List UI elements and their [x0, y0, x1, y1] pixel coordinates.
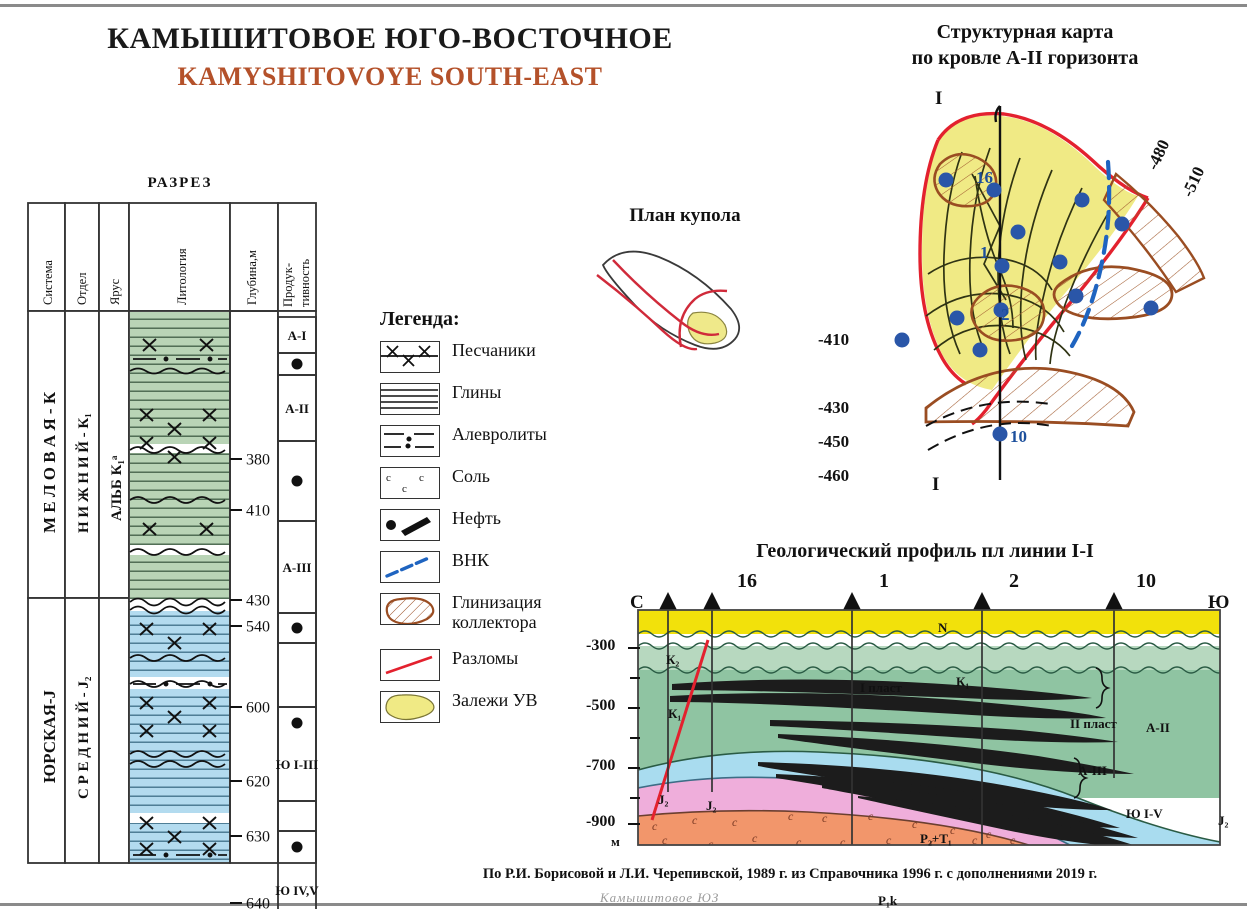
- depth-label: 600: [246, 700, 270, 717]
- depth-label: 410: [246, 503, 270, 520]
- salt-glyph: с: [912, 817, 918, 831]
- profile-layer-label: К₁: [956, 674, 969, 689]
- oil-show-dot: [292, 623, 303, 634]
- strat-yarus-alb: АЛЬБ К₁ᵃ: [109, 455, 125, 521]
- fault-icon: [380, 649, 440, 681]
- depth-scale: 380410430540600620630640650: [230, 452, 270, 909]
- legend-item-clay[interactable]: Глины: [380, 380, 610, 422]
- profile-well-label-1: 1: [879, 570, 889, 593]
- depth-label: 620: [246, 774, 270, 791]
- map-contour-label-450: -450: [818, 432, 849, 452]
- section-title-razrez: РАЗРЕЗ: [30, 175, 330, 192]
- map-well[interactable]: [1075, 193, 1090, 208]
- profile-well-label-16: 16: [737, 570, 757, 593]
- profile-layer-label: P₂+T₁: [920, 831, 952, 846]
- profile-depth-label-900: -900: [586, 813, 615, 831]
- profile-layer-label: P₁k: [878, 893, 898, 908]
- legend-label-salt: Соль: [452, 466, 490, 486]
- profile-well-derricks: [659, 592, 1123, 610]
- geological-profile: сссссссссссссссссс NК₂К₁К₁I: [600, 562, 1240, 854]
- legend-item-hc-pool[interactable]: Залежи УВ: [380, 688, 610, 730]
- oil-show-dot: [292, 359, 303, 370]
- clayed-line2: коллектора: [452, 612, 537, 632]
- salt-glyph: с: [868, 809, 874, 823]
- map-well[interactable]: [939, 173, 954, 188]
- poster-root: КАМЫШИТОВОЕ ЮГО-ВОСТОЧНОЕ KAMYSHITOVOYE …: [0, 0, 1247, 909]
- salt-glyph: с: [788, 809, 794, 823]
- handwritten-note: Камышитовое ЮЗ: [600, 890, 719, 906]
- legend-label-siltstone: Алевролиты: [452, 424, 547, 444]
- profile-layer-label: К₂: [666, 652, 679, 667]
- profile-layer-label: J₂: [706, 798, 717, 813]
- strat-header-prod2: тивность: [298, 259, 312, 307]
- source-caption: По Р.И. Борисовой и Л.И. Черепивской, 19…: [340, 866, 1240, 883]
- stratigraphic-column: Система Отдел Ярус Литология Глубина,м П…: [28, 203, 316, 863]
- profile-body: сссссссссссссссссс: [638, 610, 1226, 898]
- salt-glyph: с: [840, 835, 846, 849]
- salt-glyph: с: [822, 811, 828, 825]
- profile-layer-label: J₂: [658, 792, 669, 807]
- profile-well-label-10: 10: [1136, 570, 1156, 593]
- profile-axis-unit: м: [611, 834, 620, 850]
- map-well[interactable]: [1069, 289, 1084, 304]
- profile-depth-label-300: -300: [586, 637, 615, 655]
- profile-layer-label: N: [938, 620, 948, 635]
- profile-derrick[interactable]: [659, 592, 677, 610]
- profile-layer-label: I пласт: [860, 680, 902, 695]
- profile-derrick[interactable]: [973, 592, 991, 610]
- salt-glyph: с: [732, 815, 738, 829]
- depth-label: 540: [246, 619, 270, 636]
- profile-layer-label: J₂: [1218, 813, 1229, 828]
- map-contour-label-410: -410: [818, 330, 849, 350]
- page-title: КАМЫШИТОВОЕ ЮГО-ВОСТОЧНОЕ: [60, 22, 720, 56]
- strat-header-prod1: Продук-: [281, 263, 295, 307]
- legend-item-salt[interactable]: с с с Соль: [380, 464, 610, 506]
- map-well[interactable]: [1011, 225, 1026, 240]
- salt-glyph: с: [402, 483, 407, 495]
- strat-header-lithology: Литология: [175, 248, 189, 305]
- map-well[interactable]: [1053, 255, 1068, 270]
- productivity-label: А-I: [288, 328, 307, 343]
- profile-layer-label: Ю I-V: [1126, 806, 1163, 821]
- oil-show-dot: [292, 842, 303, 853]
- map-title-line2: по кровле А-II горизонта: [912, 47, 1139, 69]
- depth-label: 640: [246, 896, 270, 909]
- profile-layer-label: II пласт: [1070, 716, 1117, 731]
- strat-header-depth: Глубина,м: [245, 250, 259, 305]
- profile-derrick[interactable]: [843, 592, 861, 610]
- map-well-label-2: 2: [1001, 305, 1010, 325]
- legend: Песчаники Глины: [380, 338, 610, 730]
- legend-item-fault[interactable]: Разломы: [380, 646, 610, 688]
- layer-k2: [638, 646, 1220, 670]
- legend-label-clayed-reservoir: Глинизация коллектора: [452, 592, 542, 632]
- strat-header-otdel: Отдел: [75, 273, 89, 305]
- salt-glyph: с: [692, 813, 698, 827]
- map-well[interactable]: [993, 427, 1008, 442]
- legend-item-siltstone[interactable]: Алевролиты: [380, 422, 610, 464]
- section-title-structural-map: Структурная карта по кровле А-II горизон…: [820, 20, 1230, 71]
- map-well[interactable]: [895, 333, 910, 348]
- strat-system-cretaceous: М Е Л О В А Я - К: [40, 391, 59, 533]
- salt-glyph: с: [419, 472, 424, 484]
- legend-item-clayed-reservoir[interactable]: Глинизация коллектора: [380, 590, 610, 646]
- clay-icon: [380, 383, 440, 415]
- profile-depth-label-500: -500: [586, 697, 615, 715]
- legend-title: Легенда:: [380, 308, 460, 331]
- hc-pool-icon: [380, 691, 440, 723]
- profile-well-label-2: 2: [1009, 570, 1019, 593]
- clayed-reservoir-icon: [380, 593, 440, 625]
- salt-glyph: с: [796, 835, 802, 849]
- profile-derrick[interactable]: [1105, 592, 1123, 610]
- productivity-label: Ю IV,V: [275, 883, 319, 898]
- profile-layer-label: А-II: [1146, 720, 1170, 735]
- productivity-label: Ю I-III: [276, 757, 318, 772]
- oil-show-dot: [292, 476, 303, 487]
- lithology-body: [130, 312, 229, 862]
- legend-label-hc-pool: Залежи УВ: [452, 690, 537, 710]
- map-well[interactable]: [995, 259, 1010, 274]
- strat-header-system: Система: [41, 260, 55, 305]
- map-title-line1: Структурная карта: [937, 21, 1114, 43]
- legend-label-sandstone: Песчаники: [452, 340, 536, 360]
- salt-glyph: с: [386, 472, 391, 484]
- structural-map: [820, 78, 1240, 508]
- map-section-label-top: I: [935, 88, 942, 110]
- top-rule: [0, 4, 1247, 7]
- strat-system-jurassic: ЮРСКАЯ-J: [40, 689, 59, 783]
- legend-label-fault: Разломы: [452, 648, 518, 668]
- legend-label-owc: ВНК: [452, 550, 489, 570]
- salt-glyph: с: [708, 837, 714, 851]
- owc-icon: [380, 551, 440, 583]
- profile-direction-south: Ю: [1208, 592, 1229, 614]
- map-well-label-1: 1: [980, 243, 989, 263]
- map-well-label-16: 16: [976, 168, 993, 188]
- profile-derrick[interactable]: [703, 592, 721, 610]
- salt-glyph: с: [986, 827, 992, 841]
- map-contour-label-460: -460: [818, 466, 849, 486]
- profile-depth-label-700: -700: [586, 757, 615, 775]
- section-title-geological-profile: Геологический профиль пл линии I-I: [610, 540, 1240, 563]
- oil-show-dot: [292, 718, 303, 729]
- salt-icon: с с с: [380, 467, 440, 499]
- section-title-dome-plan: План купола: [560, 205, 810, 227]
- strat-svg: Система Отдел Ярус Литология Глубина,м П…: [28, 203, 316, 863]
- profile-layer-label: К₁: [668, 706, 681, 721]
- siltstone-icon: [380, 425, 440, 457]
- legend-item-owc[interactable]: ВНК: [380, 548, 610, 590]
- productivity-label: А-III: [283, 560, 312, 575]
- page-subtitle: KAMYSHITOVOYE SOUTH-EAST: [60, 62, 720, 92]
- oil-icon: [380, 509, 440, 541]
- map-well[interactable]: [1115, 217, 1130, 232]
- map-well[interactable]: [973, 343, 988, 358]
- clayed-line1: Глинизация: [452, 592, 542, 612]
- map-contour-label-430: -430: [818, 398, 849, 418]
- profile-direction-north: С: [630, 592, 644, 614]
- productivity-label: А-II: [285, 401, 309, 416]
- map-well[interactable]: [1144, 301, 1159, 316]
- salt-glyph: с: [752, 831, 758, 845]
- map-well[interactable]: [950, 311, 965, 326]
- depth-label: 430: [246, 593, 270, 610]
- legend-label-clay: Глины: [452, 382, 501, 402]
- depth-label: 630: [246, 829, 270, 846]
- map-section-label-bottom: I: [932, 474, 939, 496]
- map-well-label-10: 10: [1010, 427, 1027, 447]
- dome-plan-sketch: [575, 235, 775, 350]
- depth-label: 380: [246, 452, 270, 469]
- salt-glyph: с: [652, 819, 658, 833]
- sandstone-icon: [380, 341, 440, 373]
- strat-header-yarus: Ярус: [108, 278, 122, 305]
- legend-label-oil: Нефть: [452, 508, 501, 528]
- strat-otdel-middle-j2: С Р Е Д Н И Й - J₂: [75, 676, 92, 799]
- layer-neogene: [638, 610, 1220, 634]
- legend-item-oil[interactable]: Нефть: [380, 506, 610, 548]
- strat-otdel-lower-k1: Н И Ж Н И Й - К₁: [75, 413, 92, 533]
